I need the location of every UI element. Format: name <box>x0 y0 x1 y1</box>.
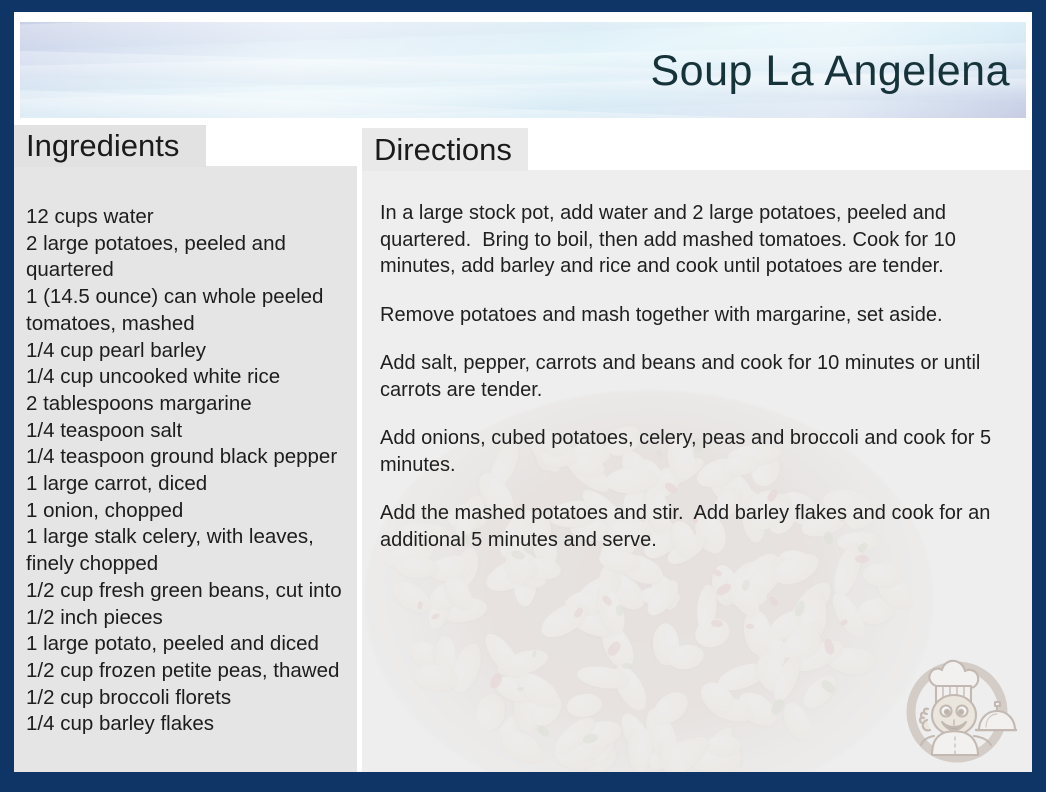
ingredient-item: 1/2 cup frozen petite peas, thawed <box>26 658 351 685</box>
ingredient-item: 1 large stalk celery, with leaves, finel… <box>26 524 351 577</box>
ingredient-item: 1/2 cup fresh green beans, cut into 1/2 … <box>26 578 351 631</box>
ingredient-item: 1/2 cup broccoli florets <box>26 685 351 712</box>
direction-step: Remove potatoes and mash together with m… <box>380 302 1026 329</box>
ingredient-item: 2 tablespoons margarine <box>26 391 351 418</box>
ingredients-heading-tab: Ingredients <box>14 125 206 167</box>
direction-step: Add the mashed potatoes and stir. Add ba… <box>380 500 1026 553</box>
recipe-card: Soup La Angelena 12 cups water2 large po… <box>14 12 1032 772</box>
header-banner: Soup La Angelena <box>20 22 1026 118</box>
ingredient-item: 2 large potatoes, peeled and quartered <box>26 231 351 284</box>
ingredients-list: 12 cups water2 large potatoes, peeled an… <box>26 204 351 738</box>
ingredient-item: 1/4 teaspoon ground black pepper <box>26 444 351 471</box>
directions-steps: In a large stock pot, add water and 2 la… <box>380 200 1026 553</box>
directions-heading: Directions <box>374 129 512 170</box>
ingredient-item: 1 (14.5 ounce) can whole peeled tomatoes… <box>26 284 351 337</box>
direction-step: In a large stock pot, add water and 2 la… <box>380 200 1026 280</box>
ingredients-heading: Ingredients <box>26 126 179 166</box>
direction-step: Add salt, pepper, carrots and beans and … <box>380 350 1026 403</box>
recipe-title: Soup La Angelena <box>651 42 1011 100</box>
chef-mascot-logo <box>894 642 1020 768</box>
directions-heading-tab: Directions <box>362 128 528 171</box>
ingredient-item: 1/4 cup barley flakes <box>26 711 351 738</box>
ingredient-item: 1 large potato, peeled and diced <box>26 631 351 658</box>
ingredient-item: 1/4 cup pearl barley <box>26 338 351 365</box>
direction-step: Add onions, cubed potatoes, celery, peas… <box>380 425 1026 478</box>
ingredients-panel: 12 cups water2 large potatoes, peeled an… <box>14 166 357 772</box>
ingredient-item: 1/4 cup uncooked white rice <box>26 364 351 391</box>
ingredient-item: 12 cups water <box>26 204 351 231</box>
ingredient-item: 1 large carrot, diced <box>26 471 351 498</box>
ingredient-item: 1/4 teaspoon salt <box>26 418 351 445</box>
ingredient-item: 1 onion, chopped <box>26 498 351 525</box>
